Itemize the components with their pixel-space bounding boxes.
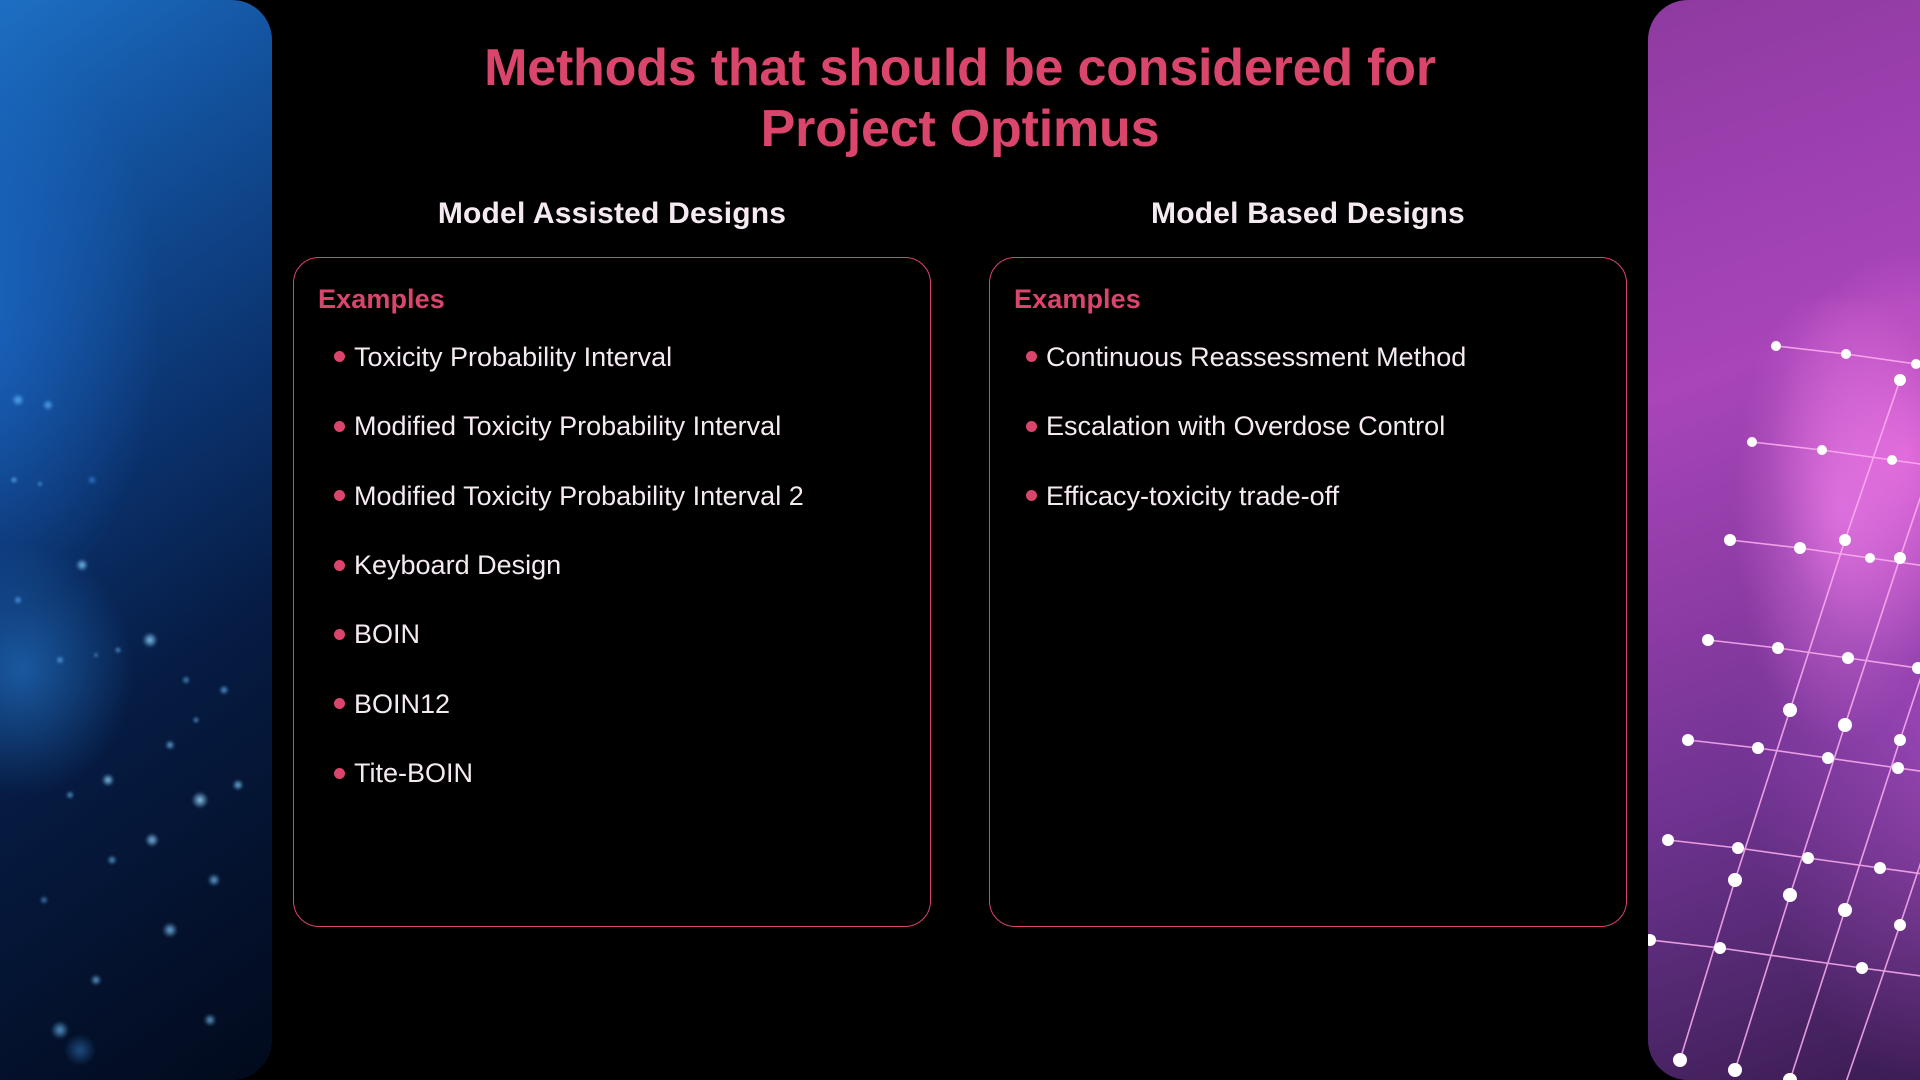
- list-item: Modified Toxicity Probability Interval: [318, 410, 906, 442]
- bokeh-dots-pattern: [0, 0, 272, 1080]
- bullet-dot-icon: [334, 351, 345, 362]
- columns-container: Model Assisted Designs Examples Toxicity…: [272, 197, 1648, 927]
- bullet-dot-icon: [334, 490, 345, 501]
- bullet-dot-icon: [334, 629, 345, 640]
- list-item: Continuous Reassessment Method: [1014, 341, 1602, 373]
- column-heading-right: Model Based Designs: [989, 197, 1627, 231]
- list-item-label: Efficacy-toxicity trade-off: [1046, 480, 1339, 512]
- card-label-left: Examples: [318, 284, 906, 315]
- list-item-label: Escalation with Overdose Control: [1046, 410, 1445, 442]
- column-model-assisted-designs: Model Assisted Designs Examples Toxicity…: [293, 197, 931, 927]
- left-decorative-image: [0, 0, 272, 1080]
- bullet-dot-icon: [334, 768, 345, 779]
- list-item-label: Modified Toxicity Probability Interval 2: [354, 480, 804, 512]
- column-heading-left: Model Assisted Designs: [293, 197, 931, 231]
- column-model-based-designs: Model Based Designs Examples Continuous …: [989, 197, 1627, 927]
- card-label-right: Examples: [1014, 284, 1602, 315]
- slide-content: Methods that should be considered for Pr…: [272, 0, 1648, 1080]
- list-item: Modified Toxicity Probability Interval 2: [318, 480, 906, 512]
- examples-card-right: Examples Continuous Reassessment Method …: [989, 257, 1627, 927]
- bullet-dot-icon: [1026, 421, 1037, 432]
- slide: Methods that should be considered for Pr…: [0, 0, 1920, 1080]
- list-item-label: Continuous Reassessment Method: [1046, 341, 1466, 373]
- list-item: Keyboard Design: [318, 549, 906, 581]
- list-item: Efficacy-toxicity trade-off: [1014, 480, 1602, 512]
- list-item: Toxicity Probability Interval: [318, 341, 906, 373]
- bullet-dot-icon: [334, 560, 345, 571]
- list-item-label: BOIN12: [354, 688, 450, 720]
- list-item: BOIN12: [318, 688, 906, 720]
- examples-card-left: Examples Toxicity Probability Interval M…: [293, 257, 931, 927]
- list-item-label: BOIN: [354, 618, 420, 650]
- list-item: Tite-BOIN: [318, 757, 906, 789]
- list-item: BOIN: [318, 618, 906, 650]
- bullet-dot-icon: [1026, 351, 1037, 362]
- slide-title: Methods that should be considered for Pr…: [390, 0, 1530, 161]
- list-item-label: Toxicity Probability Interval: [354, 341, 672, 373]
- bullet-dot-icon: [1026, 490, 1037, 501]
- list-item-label: Keyboard Design: [354, 549, 561, 581]
- bullet-dot-icon: [334, 698, 345, 709]
- bullet-dot-icon: [334, 421, 345, 432]
- bullet-list-left: Toxicity Probability Interval Modified T…: [318, 341, 906, 790]
- list-item-label: Tite-BOIN: [354, 757, 473, 789]
- right-decorative-image: [1648, 0, 1920, 1080]
- list-item-label: Modified Toxicity Probability Interval: [354, 410, 781, 442]
- bullet-list-right: Continuous Reassessment Method Escalatio…: [1014, 341, 1602, 512]
- node-mesh-pattern: [1648, 0, 1920, 1080]
- list-item: Escalation with Overdose Control: [1014, 410, 1602, 442]
